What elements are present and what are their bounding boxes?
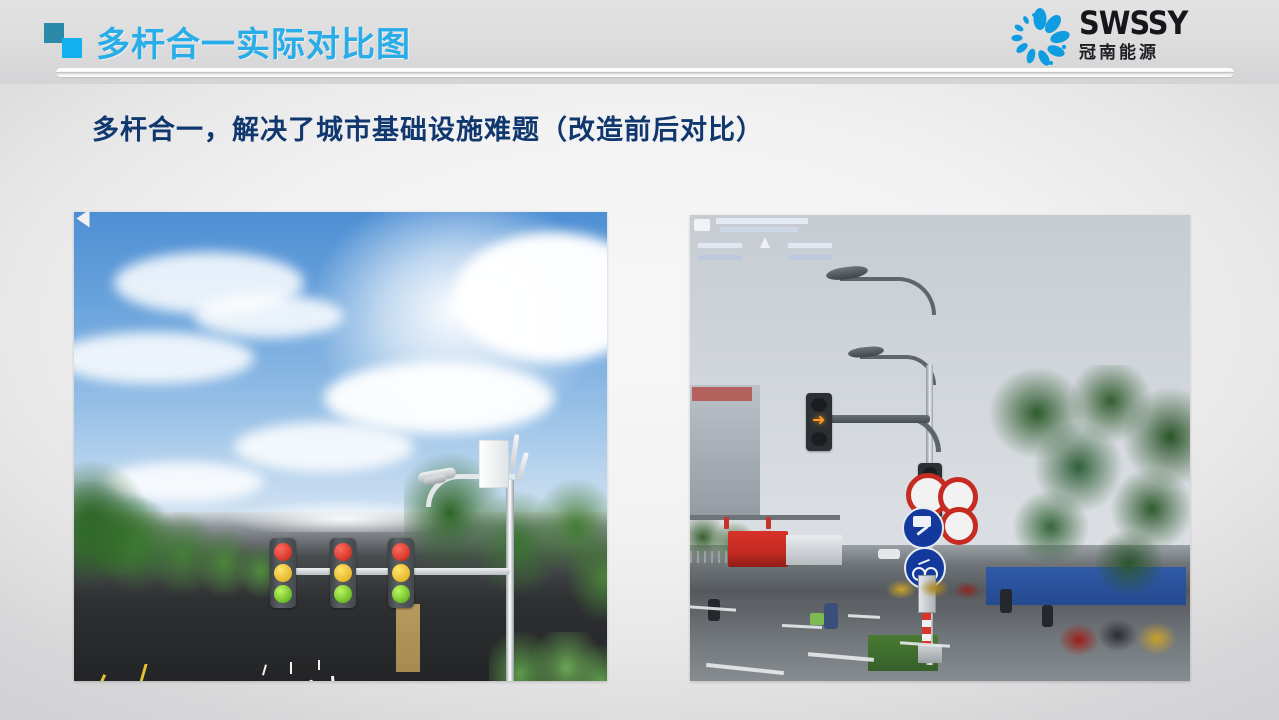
parked-scooters-row bbox=[1058, 605, 1188, 663]
cloud-shape bbox=[194, 294, 344, 338]
road-arrow-marking bbox=[77, 212, 90, 228]
background-building-right bbox=[396, 604, 420, 672]
sign-up-arrow-icon bbox=[760, 237, 770, 248]
prohibition-sign-round bbox=[940, 507, 978, 545]
lane-dash bbox=[290, 662, 292, 674]
white-van bbox=[786, 535, 842, 565]
bus-icon bbox=[913, 516, 931, 527]
signal-dark-lamp bbox=[811, 432, 827, 446]
red-truck bbox=[728, 531, 788, 567]
cyclist bbox=[824, 603, 838, 629]
traffic-signal-head bbox=[330, 538, 356, 608]
image-after-rendering: 区域中路 区域中路 bbox=[74, 212, 607, 681]
decorative-square-light-icon bbox=[62, 38, 82, 58]
green-basket bbox=[810, 613, 824, 625]
logo-brand-name: SWSSY bbox=[1079, 6, 1265, 40]
signal-yellow-lamp bbox=[274, 564, 292, 582]
signal-red-lamp bbox=[274, 543, 292, 561]
signal-red-lamp bbox=[392, 543, 410, 561]
bus-lane-sign-round bbox=[902, 507, 944, 549]
signal-green-lamp bbox=[392, 585, 410, 603]
parked-shared-bicycles bbox=[886, 571, 996, 603]
pole-foundation-base bbox=[918, 645, 942, 663]
signal-green-lamp bbox=[274, 585, 292, 603]
water-droplet-flower-logo-icon bbox=[1007, 6, 1073, 70]
background-building-red-band bbox=[692, 387, 752, 401]
signal-dark-lamp bbox=[811, 398, 827, 412]
distant-traffic-signal bbox=[724, 517, 729, 529]
traffic-signal-head bbox=[270, 538, 296, 608]
sign-text-line bbox=[720, 227, 798, 232]
sign-text-line bbox=[788, 255, 832, 260]
signal-red-lamp bbox=[334, 543, 352, 561]
sign-text-line bbox=[716, 218, 808, 224]
sign-text-line bbox=[698, 243, 742, 248]
bicycle-frame-icon bbox=[918, 559, 930, 565]
lane-dash bbox=[318, 660, 320, 670]
e-bike-rider bbox=[1000, 589, 1012, 613]
communication-base-station-cabinet bbox=[479, 440, 509, 488]
slide-subtitle: 多杆合一，解决了城市基础设施难题（改造前后对比） bbox=[92, 108, 764, 147]
sign-text-line bbox=[698, 255, 742, 260]
page-title: 多杆合一实际对比图 bbox=[96, 17, 411, 66]
multi-function-pole bbox=[506, 480, 514, 681]
white-car bbox=[878, 549, 900, 559]
signal-green-lamp bbox=[334, 585, 352, 603]
signal-yellow-lamp bbox=[334, 564, 352, 582]
traffic-signal-head-arrow: ➜ bbox=[806, 393, 832, 451]
sign-text-line bbox=[788, 243, 832, 248]
right-turn-arrow-icon: ➜ bbox=[812, 413, 825, 429]
decorative-square-dark-icon bbox=[44, 23, 64, 43]
signal-yellow-lamp bbox=[392, 564, 410, 582]
image-before-photo: ➜ 辅道车辆 bbox=[690, 215, 1190, 681]
distant-signal-gantry bbox=[690, 515, 840, 520]
traffic-signal-head bbox=[388, 538, 414, 608]
sign-route-shield-icon bbox=[694, 219, 710, 231]
logo-sub-brand: 冠南能源 bbox=[1079, 41, 1265, 65]
e-bike-rider bbox=[1042, 605, 1053, 627]
distant-traffic-signal bbox=[766, 517, 771, 529]
slide-header: 多杆合一实际对比图 bbox=[0, 0, 1279, 84]
company-logo: SWSSY 冠南能源 bbox=[1007, 4, 1265, 72]
cloud-shape bbox=[234, 422, 414, 472]
slide-canvas: 多杆合一实际对比图 bbox=[0, 0, 1279, 720]
logo-text-block: SWSSY 冠南能源 bbox=[1079, 6, 1265, 65]
